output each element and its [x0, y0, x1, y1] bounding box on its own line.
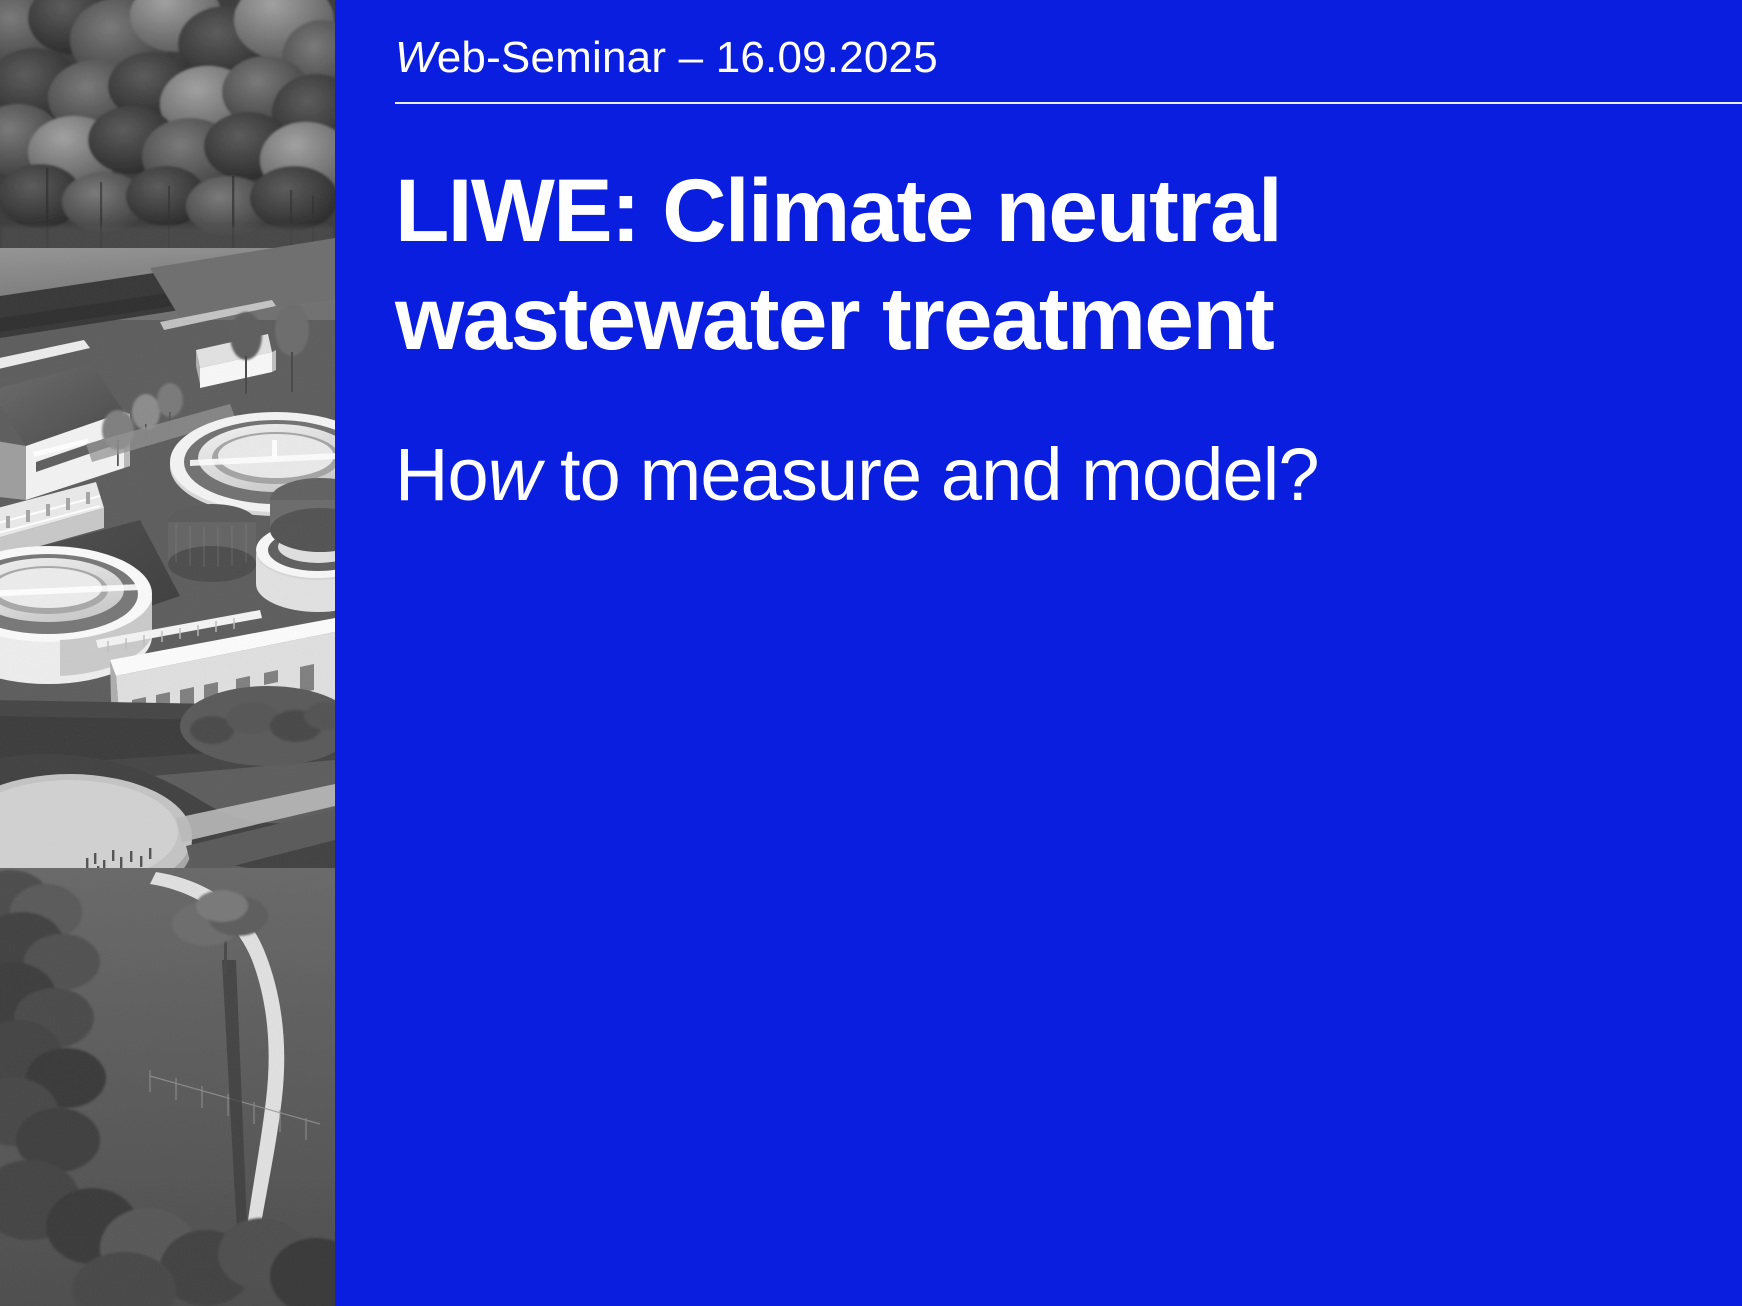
subtitle-part-1: Ho	[395, 433, 488, 516]
eyebrow-italic-lead: W	[395, 33, 437, 82]
slide-content: Web-Seminar – 16.09.2025 LIWE: Climate n…	[395, 0, 1685, 518]
seminar-eyebrow: Web-Seminar – 16.09.2025	[395, 36, 1685, 80]
title-line-2: wastewater treatment	[395, 264, 1685, 373]
subtitle-part-2: to measure and model?	[540, 433, 1318, 516]
eyebrow-divider	[395, 102, 1742, 104]
eyebrow-block: Web-Seminar – 16.09.2025	[395, 36, 1685, 104]
title-line-1: LIWE: Climate neutral	[395, 156, 1685, 265]
title-slide: Web-Seminar – 16.09.2025 LIWE: Climate n…	[0, 0, 1742, 1306]
page-title: LIWE: Climate neutral wastewater treatme…	[395, 156, 1685, 373]
aerial-plant-illustration	[0, 0, 335, 1306]
eyebrow-rest: eb-Seminar – 16.09.2025	[437, 33, 938, 82]
page-subtitle: How to measure and model?	[395, 432, 1685, 518]
aerial-plant-photo	[0, 0, 335, 1306]
subtitle-italic-w: w	[488, 433, 541, 516]
text-panel: Web-Seminar – 16.09.2025 LIWE: Climate n…	[335, 0, 1742, 1306]
